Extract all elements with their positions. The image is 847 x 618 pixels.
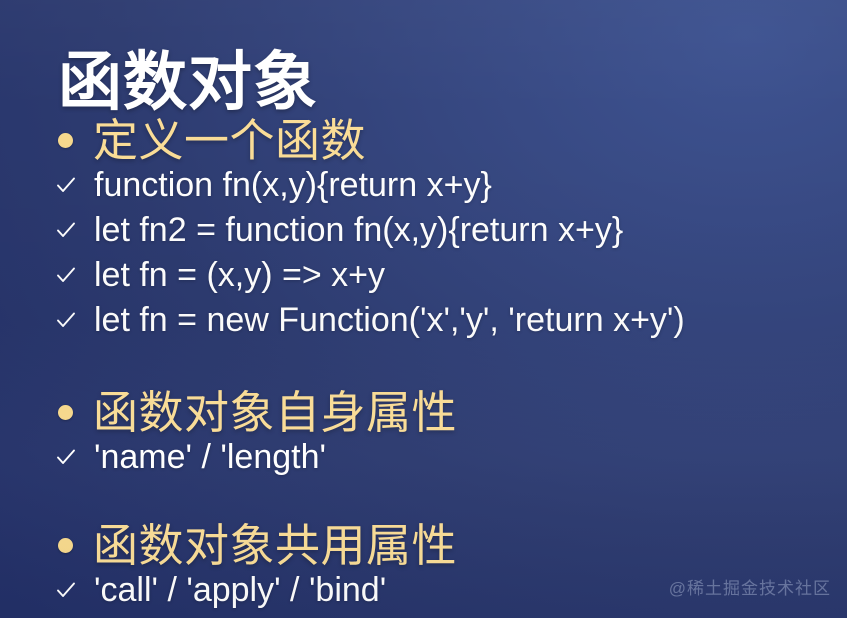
check-mark-icon — [56, 311, 76, 329]
list-item: let fn = (x,y) => x+y — [0, 258, 847, 303]
check-mark-icon — [56, 448, 76, 466]
bullet-section: 定义一个函数 function fn(x,y){return x+y} let … — [0, 112, 847, 348]
filled-circle-icon — [58, 133, 73, 148]
filled-circle-icon — [58, 538, 73, 553]
bullet-heading-label: 函数对象共用属性 — [93, 523, 457, 568]
list-item-label: function fn(x,y){return x+y} — [94, 168, 492, 202]
page-title: 函数对象 — [58, 47, 318, 119]
list-item-label: 'call' / 'apply' / 'bind' — [94, 573, 386, 607]
bullet-heading-label: 函数对象自身属性 — [93, 390, 457, 435]
bullet-heading-row: 函数对象共用属性 — [0, 517, 847, 573]
filled-circle-icon — [58, 405, 73, 420]
list-item: let fn2 = function fn(x,y){return x+y} — [0, 213, 847, 258]
bullet-section: 函数对象共用属性 'call' / 'apply' / 'bind' — [0, 517, 847, 618]
list-item-label: 'name' / 'length' — [94, 440, 326, 474]
list-item: 'name' / 'length' — [0, 440, 847, 485]
check-mark-icon — [56, 176, 76, 194]
presentation-slide: 函数对象 定义一个函数 function fn(x,y){return x+y} — [0, 0, 847, 618]
check-mark-icon — [56, 581, 76, 599]
check-mark-icon — [56, 221, 76, 239]
list-item: function fn(x,y){return x+y} — [0, 168, 847, 213]
list-item-label: let fn = new Function('x','y', 'return x… — [94, 303, 685, 337]
bullet-heading-row: 定义一个函数 — [0, 112, 847, 168]
check-mark-icon — [56, 266, 76, 284]
list-item-label: let fn2 = function fn(x,y){return x+y} — [94, 213, 623, 247]
slide-content: 定义一个函数 function fn(x,y){return x+y} let … — [0, 112, 847, 618]
list-item: let fn = new Function('x','y', 'return x… — [0, 303, 847, 348]
bullet-heading-row: 函数对象自身属性 — [0, 384, 847, 440]
bullet-heading-label: 定义一个函数 — [93, 118, 366, 163]
bullet-section: 函数对象自身属性 'name' / 'length' — [0, 384, 847, 485]
list-item-label: let fn = (x,y) => x+y — [94, 258, 385, 292]
watermark: @稀土掘金技术社区 — [669, 574, 831, 599]
